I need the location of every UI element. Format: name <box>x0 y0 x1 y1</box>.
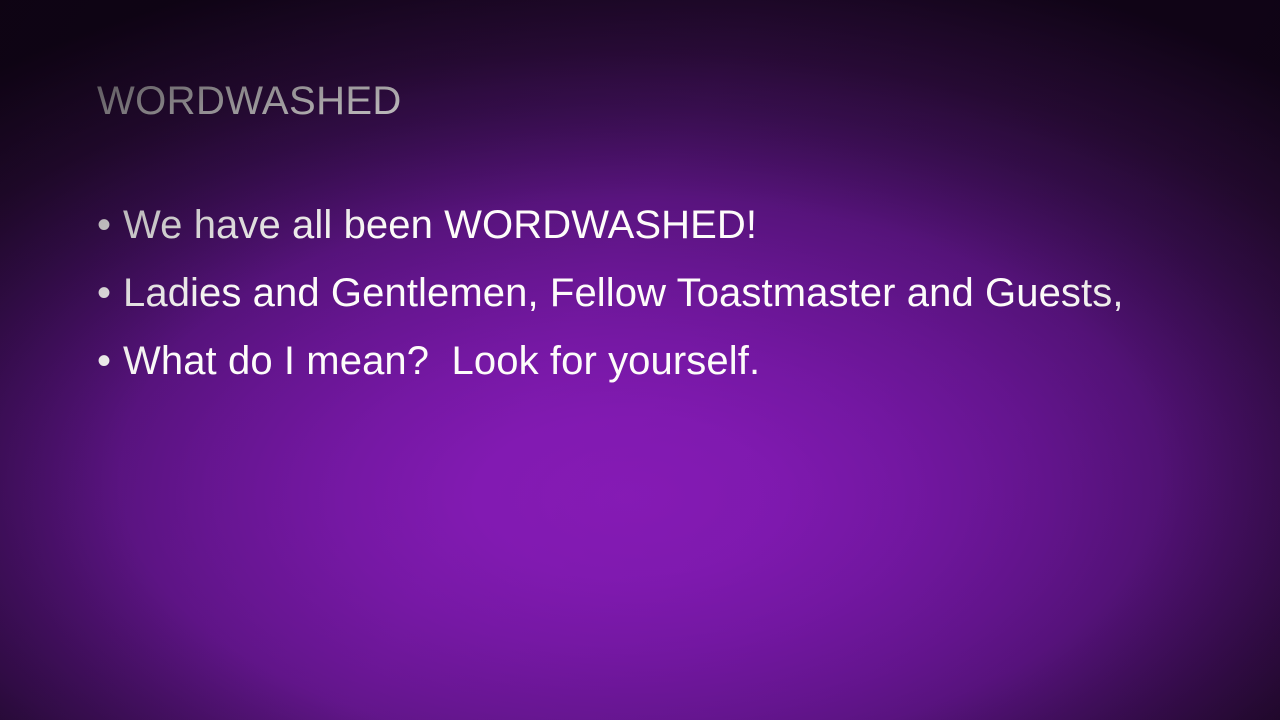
slide-bullet-list: • We have all been WORDWASHED! • Ladies … <box>97 196 1137 391</box>
bullet-text: Ladies and Gentlemen, Fellow Toastmaster… <box>123 264 1137 323</box>
presentation-slide: WORDWASHED • We have all been WORDWASHED… <box>0 0 1280 720</box>
bullet-item: • We have all been WORDWASHED! <box>97 196 1137 255</box>
bullet-item: • Ladies and Gentlemen, Fellow Toastmast… <box>97 264 1137 323</box>
bullet-point-icon: • <box>97 196 123 255</box>
bullet-text: What do I mean? Look for yourself. <box>123 332 1137 391</box>
bullet-text: We have all been WORDWASHED! <box>123 196 1137 255</box>
bullet-item: • What do I mean? Look for yourself. <box>97 332 1137 391</box>
slide-title: WORDWASHED <box>97 79 402 123</box>
bullet-point-icon: • <box>97 264 123 323</box>
bullet-point-icon: • <box>97 332 123 391</box>
slide-content: WORDWASHED • We have all been WORDWASHED… <box>0 0 1280 720</box>
